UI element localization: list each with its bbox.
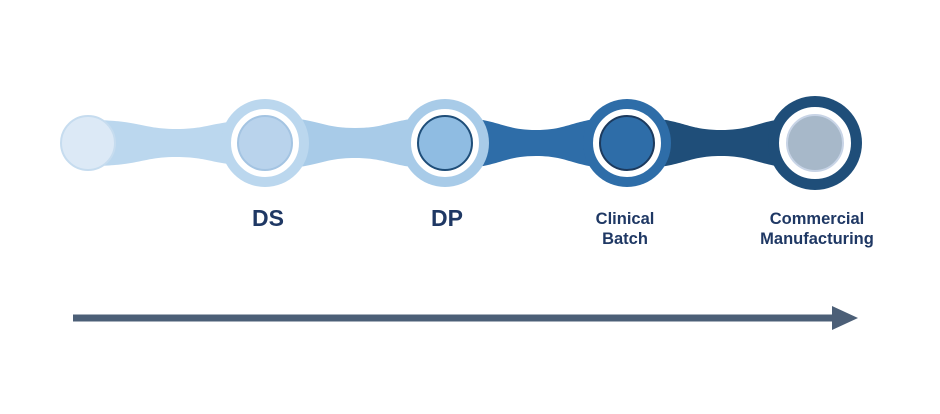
node-core-dp[interactable] — [418, 116, 472, 170]
node-label-clinical-batch: ClinicalBatch — [596, 210, 655, 248]
node-core-clinical-batch[interactable] — [600, 116, 654, 170]
node-label-ds: DS — [252, 205, 284, 231]
progression-arrow — [73, 306, 858, 330]
flow-diagram-canvas: DS DP ClinicalBatch CommercialManufactur… — [0, 0, 940, 414]
node-core-start[interactable] — [61, 116, 115, 170]
node-label-commercial-manufacturing: CommercialManufacturing — [760, 210, 874, 248]
progression-arrow-shape — [73, 306, 858, 330]
node-label-dp: DP — [431, 205, 463, 231]
node-core-commercial-manufacturing[interactable] — [787, 115, 843, 171]
node-label-group: DS DP ClinicalBatch CommercialManufactur… — [252, 205, 874, 248]
process-flow-diagram: DS DP ClinicalBatch CommercialManufactur… — [0, 0, 940, 414]
node-core-ds[interactable] — [238, 116, 292, 170]
